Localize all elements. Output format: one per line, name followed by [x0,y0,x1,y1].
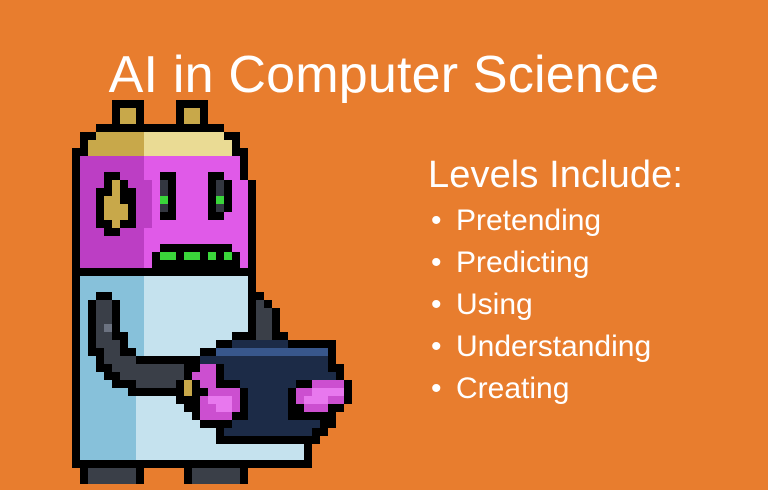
list-item-label: Using [456,288,533,321]
page-title: AI in Computer Science [0,43,768,107]
robot-svg [48,100,368,484]
bullet-icon: • [431,368,442,410]
pixel-robot-illustration [48,100,368,484]
list-item: •Using [424,284,754,326]
list-item-label: Predicting [456,246,589,279]
list-item: •Pretending [424,200,754,242]
slide-canvas: AI in Computer Science Levels Include: •… [0,0,768,490]
list-item-label: Creating [456,372,569,405]
list-item-label: Pretending [456,204,601,237]
list-item-label: Understanding [456,330,651,363]
levels-heading: Levels Include: [428,152,754,198]
list-item: •Predicting [424,242,754,284]
bullet-icon: • [431,200,442,242]
levels-panel: Levels Include: •Pretending•Predicting•U… [424,152,754,410]
bullet-icon: • [431,242,442,284]
bullet-icon: • [431,284,442,326]
levels-list: •Pretending•Predicting•Using•Understandi… [424,200,754,410]
bullet-icon: • [431,326,442,368]
list-item: •Creating [424,368,754,410]
list-item: •Understanding [424,326,754,368]
